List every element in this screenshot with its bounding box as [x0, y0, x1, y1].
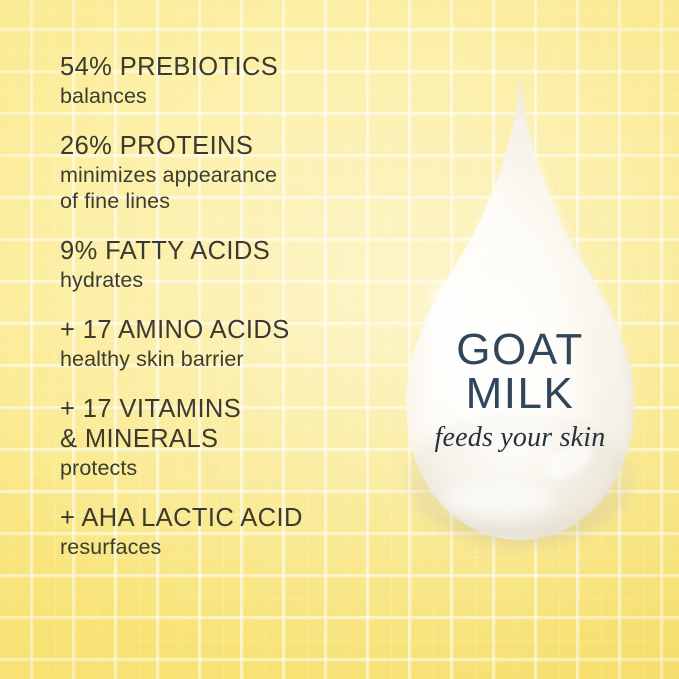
- ingredient-headline: + 17 VITAMINS & MINERALS: [60, 394, 390, 454]
- ingredient-item: 9% FATTY ACIDS hydrates: [60, 236, 390, 293]
- droplet-bounce-light: [442, 483, 554, 517]
- ingredient-headline: 26% PROTEINS: [60, 131, 390, 161]
- ingredient-benefit: protects: [60, 455, 390, 481]
- ingredient-benefit: healthy skin barrier: [60, 346, 390, 372]
- ingredient-headline: + 17 AMINO ACIDS: [60, 315, 390, 345]
- milk-droplet: GOAT MILK feeds your skin: [372, 58, 668, 558]
- ingredient-item: 26% PROTEINS minimizes appearance of fin…: [60, 131, 390, 214]
- ingredient-item: 54% PREBIOTICS balances: [60, 52, 390, 109]
- ingredient-headline: 9% FATTY ACIDS: [60, 236, 390, 266]
- ingredient-item: + AHA LACTIC ACID resurfaces: [60, 503, 390, 560]
- ingredient-item: + 17 AMINO ACIDS healthy skin barrier: [60, 315, 390, 372]
- ingredient-headline: + AHA LACTIC ACID: [60, 503, 390, 533]
- ingredient-list: 54% PREBIOTICS balances 26% PROTEINS min…: [60, 52, 390, 560]
- ingredient-benefit: minimizes appearance of fine lines: [60, 162, 390, 214]
- ingredient-benefit: balances: [60, 83, 390, 109]
- droplet-icon: [372, 58, 668, 558]
- goat-milk-ingredient-poster: 54% PREBIOTICS balances 26% PROTEINS min…: [0, 0, 679, 679]
- ingredient-benefit: hydrates: [60, 267, 390, 293]
- droplet-inner-glow: [428, 328, 612, 448]
- ingredient-benefit: resurfaces: [60, 534, 390, 560]
- ingredient-headline: 54% PREBIOTICS: [60, 52, 390, 82]
- ingredient-item: + 17 VITAMINS & MINERALS protects: [60, 394, 390, 481]
